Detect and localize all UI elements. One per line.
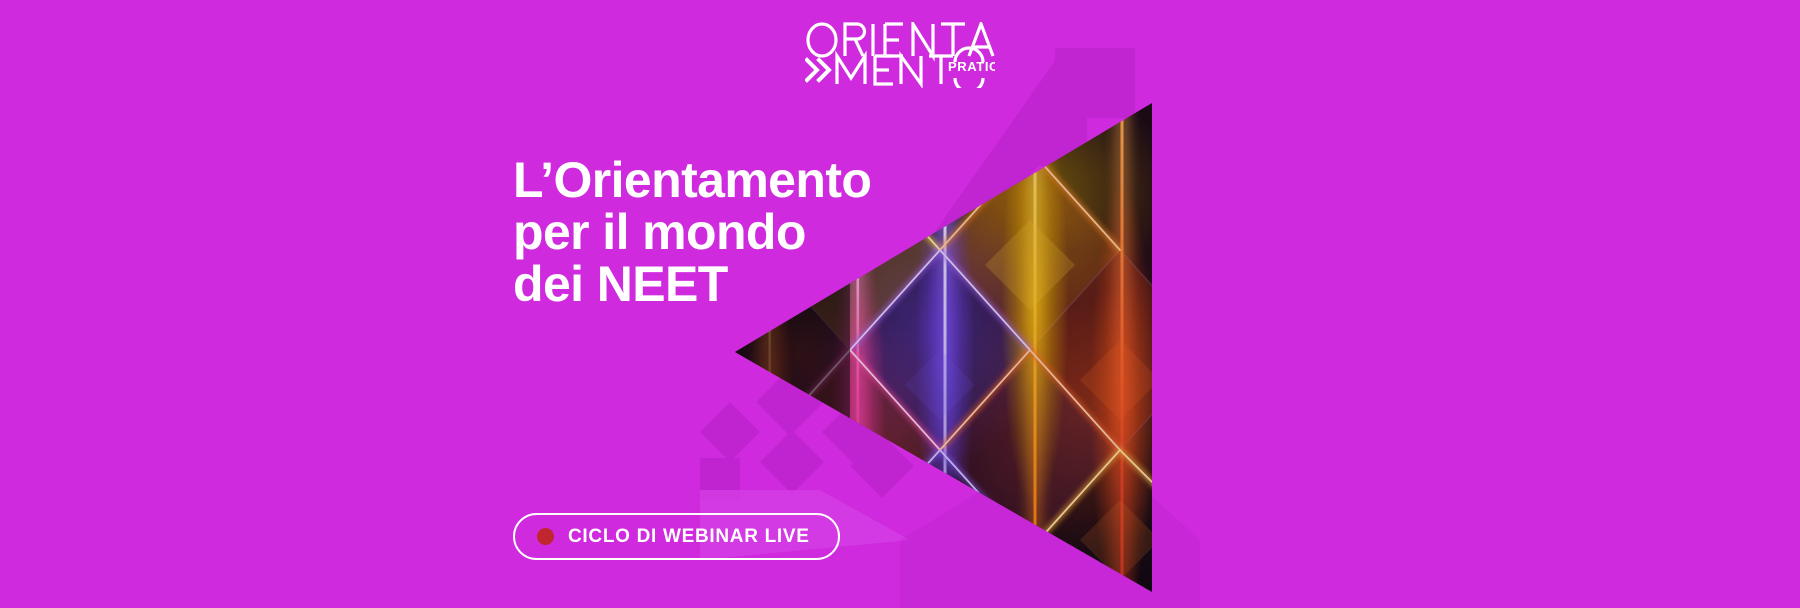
- double-chevron-right-icon: [807, 60, 829, 80]
- logo-badge-pratico: PRATICO: [948, 59, 995, 74]
- live-record-dot-icon: [537, 528, 554, 545]
- orientamento-pratico-logo: PRATICO: [805, 22, 995, 88]
- headline: L’Orientamento per il mondo dei NEET: [513, 154, 933, 310]
- promo-banner: PRATICO L’Orientamento per il mondo dei …: [0, 0, 1800, 608]
- cta-label: CICLO DI WEBINAR LIVE: [568, 526, 810, 548]
- logo-line2: [837, 56, 953, 84]
- ciclo-di-webinar-live-button[interactable]: CICLO DI WEBINAR LIVE: [513, 513, 840, 560]
